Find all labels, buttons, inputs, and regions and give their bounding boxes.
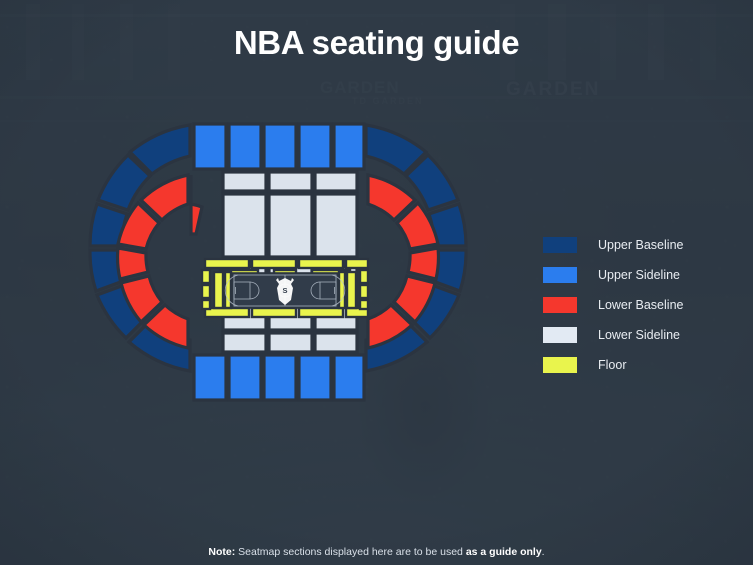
legend-label-lower-sideline: Lower Sideline [598, 328, 680, 342]
legend-swatch-lower-sideline [543, 327, 577, 343]
footer-note: Note: Seatmap sections displayed here ar… [0, 546, 753, 558]
legend-label-upper-sideline: Upper Sideline [598, 268, 680, 282]
zone-upper-sideline-bottom[interactable] [194, 355, 364, 400]
footer-note-emphasis: as a guide only [466, 546, 542, 558]
legend-item-upper-baseline[interactable]: Upper Baseline [543, 230, 683, 260]
zone-upper-sideline-top[interactable] [194, 124, 364, 169]
legend-swatch-upper-sideline [543, 267, 577, 283]
basketball-court[interactable]: S [225, 273, 345, 308]
legend-swatch-floor [543, 357, 577, 373]
legend-label-upper-baseline: Upper Baseline [598, 238, 683, 252]
arena-seatmap[interactable]: S [78, 112, 478, 412]
footer-note-end: . [542, 546, 545, 558]
seatmap-legend: Upper Baseline Upper Sideline Lower Base… [543, 230, 683, 380]
legend-swatch-lower-baseline [543, 297, 577, 313]
footer-note-text: Seatmap sections displayed here are to b… [235, 546, 466, 558]
legend-label-floor: Floor [598, 358, 626, 372]
page-title: NBA seating guide [0, 24, 753, 62]
legend-label-lower-baseline: Lower Baseline [598, 298, 683, 312]
legend-item-lower-baseline[interactable]: Lower Baseline [543, 290, 683, 320]
legend-item-upper-sideline[interactable]: Upper Sideline [543, 260, 683, 290]
zone-lower-sideline-top[interactable] [223, 172, 357, 257]
legend-item-lower-sideline[interactable]: Lower Sideline [543, 320, 683, 350]
footer-note-label: Note: [208, 546, 235, 558]
legend-swatch-upper-baseline [543, 237, 577, 253]
center-logo-letter: S [282, 286, 287, 295]
legend-item-floor[interactable]: Floor [543, 350, 683, 380]
